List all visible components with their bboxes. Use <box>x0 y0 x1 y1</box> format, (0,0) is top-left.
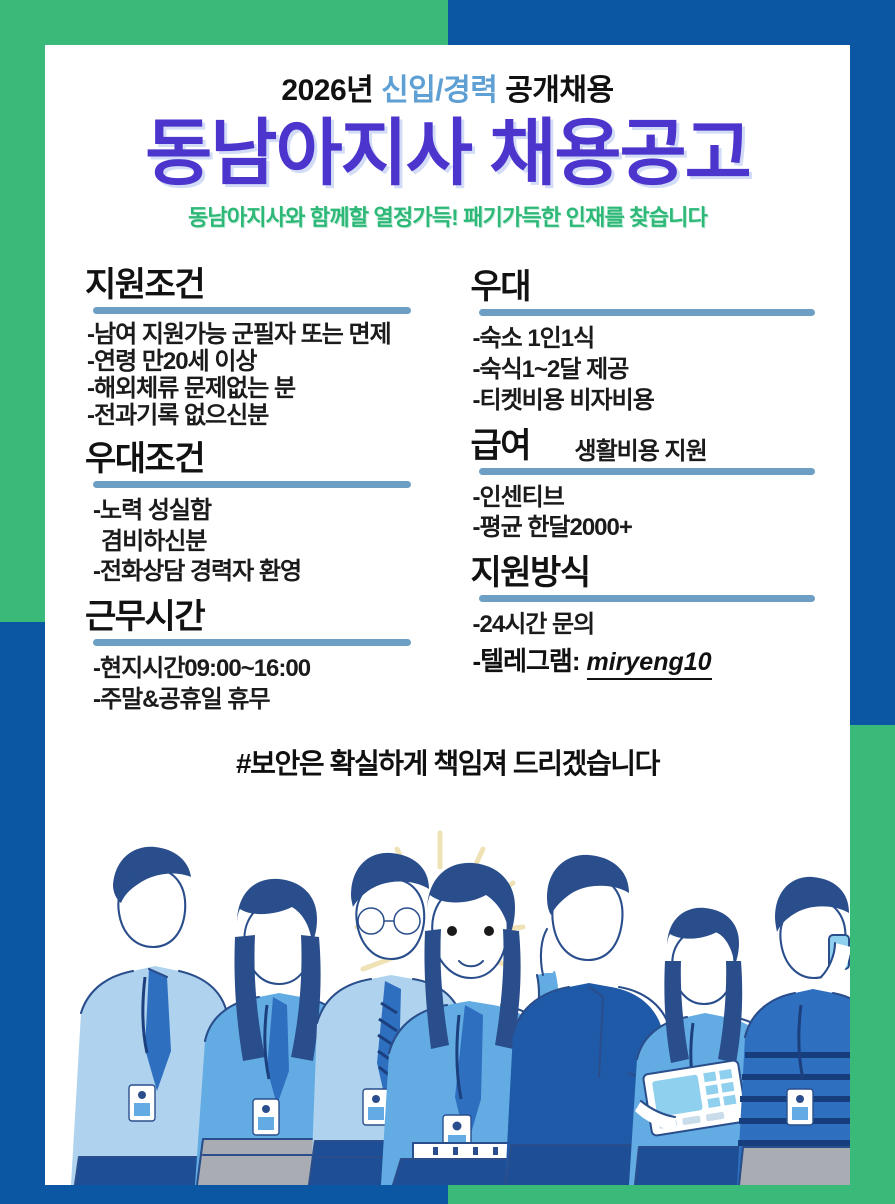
section-lines: -숙소 1인1식 -숙식1~2달 제공 -티켓비용 비자비용 <box>471 324 839 416</box>
section-heading: 급여 <box>471 427 531 465</box>
section-divider <box>479 468 815 475</box>
list-item: -숙식1~2달 제공 <box>473 355 839 386</box>
section-how-to-apply: 지원방식 -24시간 문의 -텔레그램: miryeng10 <box>471 554 839 680</box>
page-title: 동남아지사 채용공고 <box>45 115 850 192</box>
telegram-handle[interactable]: miryeng10 <box>587 648 712 680</box>
list-item: -티켓비용 비자비용 <box>473 386 839 417</box>
section-heading: 우대조건 <box>85 440 204 478</box>
section-lines: -24시간 문의 -텔레그램: miryeng10 <box>471 610 839 680</box>
list-item: 겸비하신분 <box>87 527 453 558</box>
eyebrow-line: 2026년 신입/경력 공개채용 <box>45 73 850 109</box>
list-item: -24시간 문의 <box>473 610 839 641</box>
list-item: -평균 한달2000+ <box>473 513 839 544</box>
list-item: -해외체류 문제없는 분 <box>87 376 453 403</box>
section-divider <box>93 639 411 646</box>
eyebrow-highlight: 신입/경력 <box>381 74 497 107</box>
left-column: 지원조건 -남여 지원가능 군필자 또는 면제 -연령 만20세 이상 -해외체… <box>85 266 453 715</box>
list-item: -노력 성실함 <box>87 496 453 527</box>
telegram-label: -텔레그램: <box>473 641 580 678</box>
section-heading: 근무시간 <box>85 598 204 636</box>
salary-inline-note: 생활비용 지원 <box>575 431 707 466</box>
eyebrow-suffix: 공개채용 <box>505 74 613 107</box>
section-divider <box>479 595 815 602</box>
illustration-svg: .o { fill:none; stroke:#2A4E8C; stroke-w… <box>45 827 850 1185</box>
section-work-hours: 근무시간 -현지시간09:00~16:00 -주말&공휴일 휴무 <box>85 598 453 716</box>
section-preferred-conditions: 우대조건 -노력 성실함 겸비하신분 -전화상담 경력자 환영 <box>85 440 453 588</box>
section-lines: -인센티브 -평균 한달2000+ <box>471 483 839 544</box>
section-divider <box>93 307 411 314</box>
list-item: -현지시간09:00~16:00 <box>87 654 453 685</box>
telegram-contact[interactable]: -텔레그램: miryeng10 <box>473 641 839 680</box>
right-column: 우대 -숙소 1인1식 -숙식1~2달 제공 -티켓비용 비자비용 급여 생활비… <box>471 266 839 715</box>
list-item: -주말&공휴일 휴무 <box>87 685 453 716</box>
people-illustration: .o { fill:none; stroke:#2A4E8C; stroke-w… <box>45 827 850 1185</box>
section-apply-conditions: 지원조건 -남여 지원가능 군필자 또는 면제 -연령 만20세 이상 -해외체… <box>85 266 453 430</box>
section-divider <box>479 309 815 316</box>
list-item: -전화상담 경력자 환영 <box>87 557 453 588</box>
security-slogan: #보안은 확실하게 책임져 드리겠습니다 <box>45 742 850 782</box>
section-heading: 지원방식 <box>471 554 590 592</box>
eyebrow-year: 2026년 <box>281 74 373 107</box>
section-heading: 우대 <box>471 268 531 306</box>
section-heading: 지원조건 <box>85 266 204 304</box>
recruitment-poster: 2026년 신입/경력 공개채용 동남아지사 채용공고 동남아지사와 함께할 열… <box>0 0 895 1204</box>
section-lines: -남여 지원가능 군필자 또는 면제 -연령 만20세 이상 -해외체류 문제없… <box>85 322 453 430</box>
list-item: -남여 지원가능 군필자 또는 면제 <box>87 322 453 349</box>
list-item: -숙소 1인1식 <box>473 324 839 355</box>
section-benefits: 우대 -숙소 1인1식 -숙식1~2달 제공 -티켓비용 비자비용 <box>471 268 839 416</box>
list-item: -인센티브 <box>473 483 839 514</box>
content-columns: 지원조건 -남여 지원가능 군필자 또는 면제 -연령 만20세 이상 -해외체… <box>45 266 850 715</box>
poster-card: 2026년 신입/경력 공개채용 동남아지사 채용공고 동남아지사와 함께할 열… <box>45 45 850 1185</box>
list-item: -연령 만20세 이상 <box>87 349 453 376</box>
section-lines: -현지시간09:00~16:00 -주말&공휴일 휴무 <box>85 654 453 715</box>
section-lines: -노력 성실함 겸비하신분 -전화상담 경력자 환영 <box>85 496 453 588</box>
poster-header: 2026년 신입/경력 공개채용 동남아지사 채용공고 동남아지사와 함께할 열… <box>45 45 850 232</box>
section-divider <box>93 481 411 488</box>
tagline: 동남아지사와 함께할 열정가득! 패기가득한 인재를 찾습니다 <box>45 200 850 232</box>
section-salary: 급여 생활비용 지원 -인센티브 -평균 한달2000+ <box>471 427 839 545</box>
list-item: -전과기록 없으신분 <box>87 403 453 430</box>
